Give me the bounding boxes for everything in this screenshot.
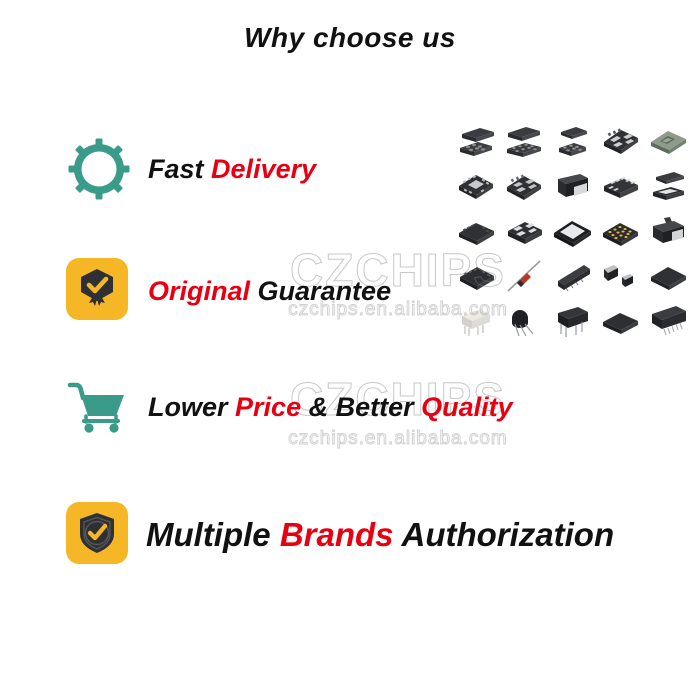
feature-word: Quality: [421, 392, 513, 422]
feature-word: Brands: [280, 516, 394, 553]
chip-qfn-corner-chip: [454, 255, 498, 297]
page-title: Why choose us: [0, 22, 700, 54]
chip-qfn-pad-chip: [454, 165, 498, 207]
shopping-cart-icon: [66, 378, 132, 436]
feature-word: Original: [148, 276, 250, 306]
chip-sip-module: [550, 255, 594, 297]
feature-label-original-guarantee: Original Guarantee: [148, 276, 391, 307]
feature-word: Multiple: [146, 516, 271, 553]
chip-ceramic-lid-package: [550, 210, 594, 252]
gear-icon: [66, 136, 132, 202]
why-choose-us-banner: Why choose us: [0, 0, 700, 700]
chip-qfn-plain: [646, 255, 690, 297]
feature-row-fast-delivery: Fast Delivery: [66, 136, 316, 202]
chip-to-92-transistor: [502, 300, 546, 342]
chip-soic-wide-package: [646, 300, 690, 342]
chip-bga-package-open: [502, 120, 546, 162]
feature-label-fast-delivery: Fast Delivery: [148, 154, 316, 185]
chip-qfn-package-open: [454, 120, 498, 162]
chip-qfn-exposed-pad: [598, 120, 642, 162]
chip-lga-package-open: [550, 120, 594, 162]
icon-tile: [66, 258, 128, 320]
feature-word: Delivery: [211, 154, 316, 184]
feature-word: Price: [235, 392, 301, 422]
feature-word: Guarantee: [258, 276, 392, 306]
chip-mosfet-small-pair: [598, 255, 642, 297]
feature-row-lower-price: Lower Price & Better Quality: [66, 378, 513, 436]
feature-word: Authorization: [401, 516, 614, 553]
feature-row-original-guarantee: Original Guarantee: [66, 258, 391, 324]
chip-qfp-flat-chip: [454, 210, 498, 252]
feature-word: Fast: [148, 154, 204, 184]
chip-dfn-package-open: [646, 165, 690, 207]
icon-tile: [66, 502, 128, 564]
feature-word: Better: [336, 392, 414, 422]
feature-word: Lower: [148, 392, 228, 422]
badge-check-icon: [66, 258, 132, 324]
chip-sot-power-package: [550, 165, 594, 207]
ic-chip-package-collage: [452, 118, 692, 343]
chip-bga-substrate-green: [646, 120, 690, 162]
chip-soic-gullwing: [598, 165, 642, 207]
feature-row-multiple-brands: Multiple Brands Authorization: [66, 502, 614, 568]
chip-axial-diode: [502, 255, 546, 297]
chip-power-module: [646, 210, 690, 252]
feature-label-lower-price: Lower Price & Better Quality: [148, 392, 513, 423]
feature-word: &: [309, 392, 329, 422]
feature-label-multiple-brands: Multiple Brands Authorization: [146, 516, 614, 554]
chip-dip-white-ceramic: [454, 300, 498, 342]
chip-qfn-multi-pad: [502, 165, 546, 207]
chip-bga-gold-balls: [598, 210, 642, 252]
chip-dip-optocoupler: [550, 300, 594, 342]
chip-qfn-square-flat: [598, 300, 642, 342]
shield-check-icon: [66, 502, 132, 568]
chip-dfn-8-pin: [502, 210, 546, 252]
